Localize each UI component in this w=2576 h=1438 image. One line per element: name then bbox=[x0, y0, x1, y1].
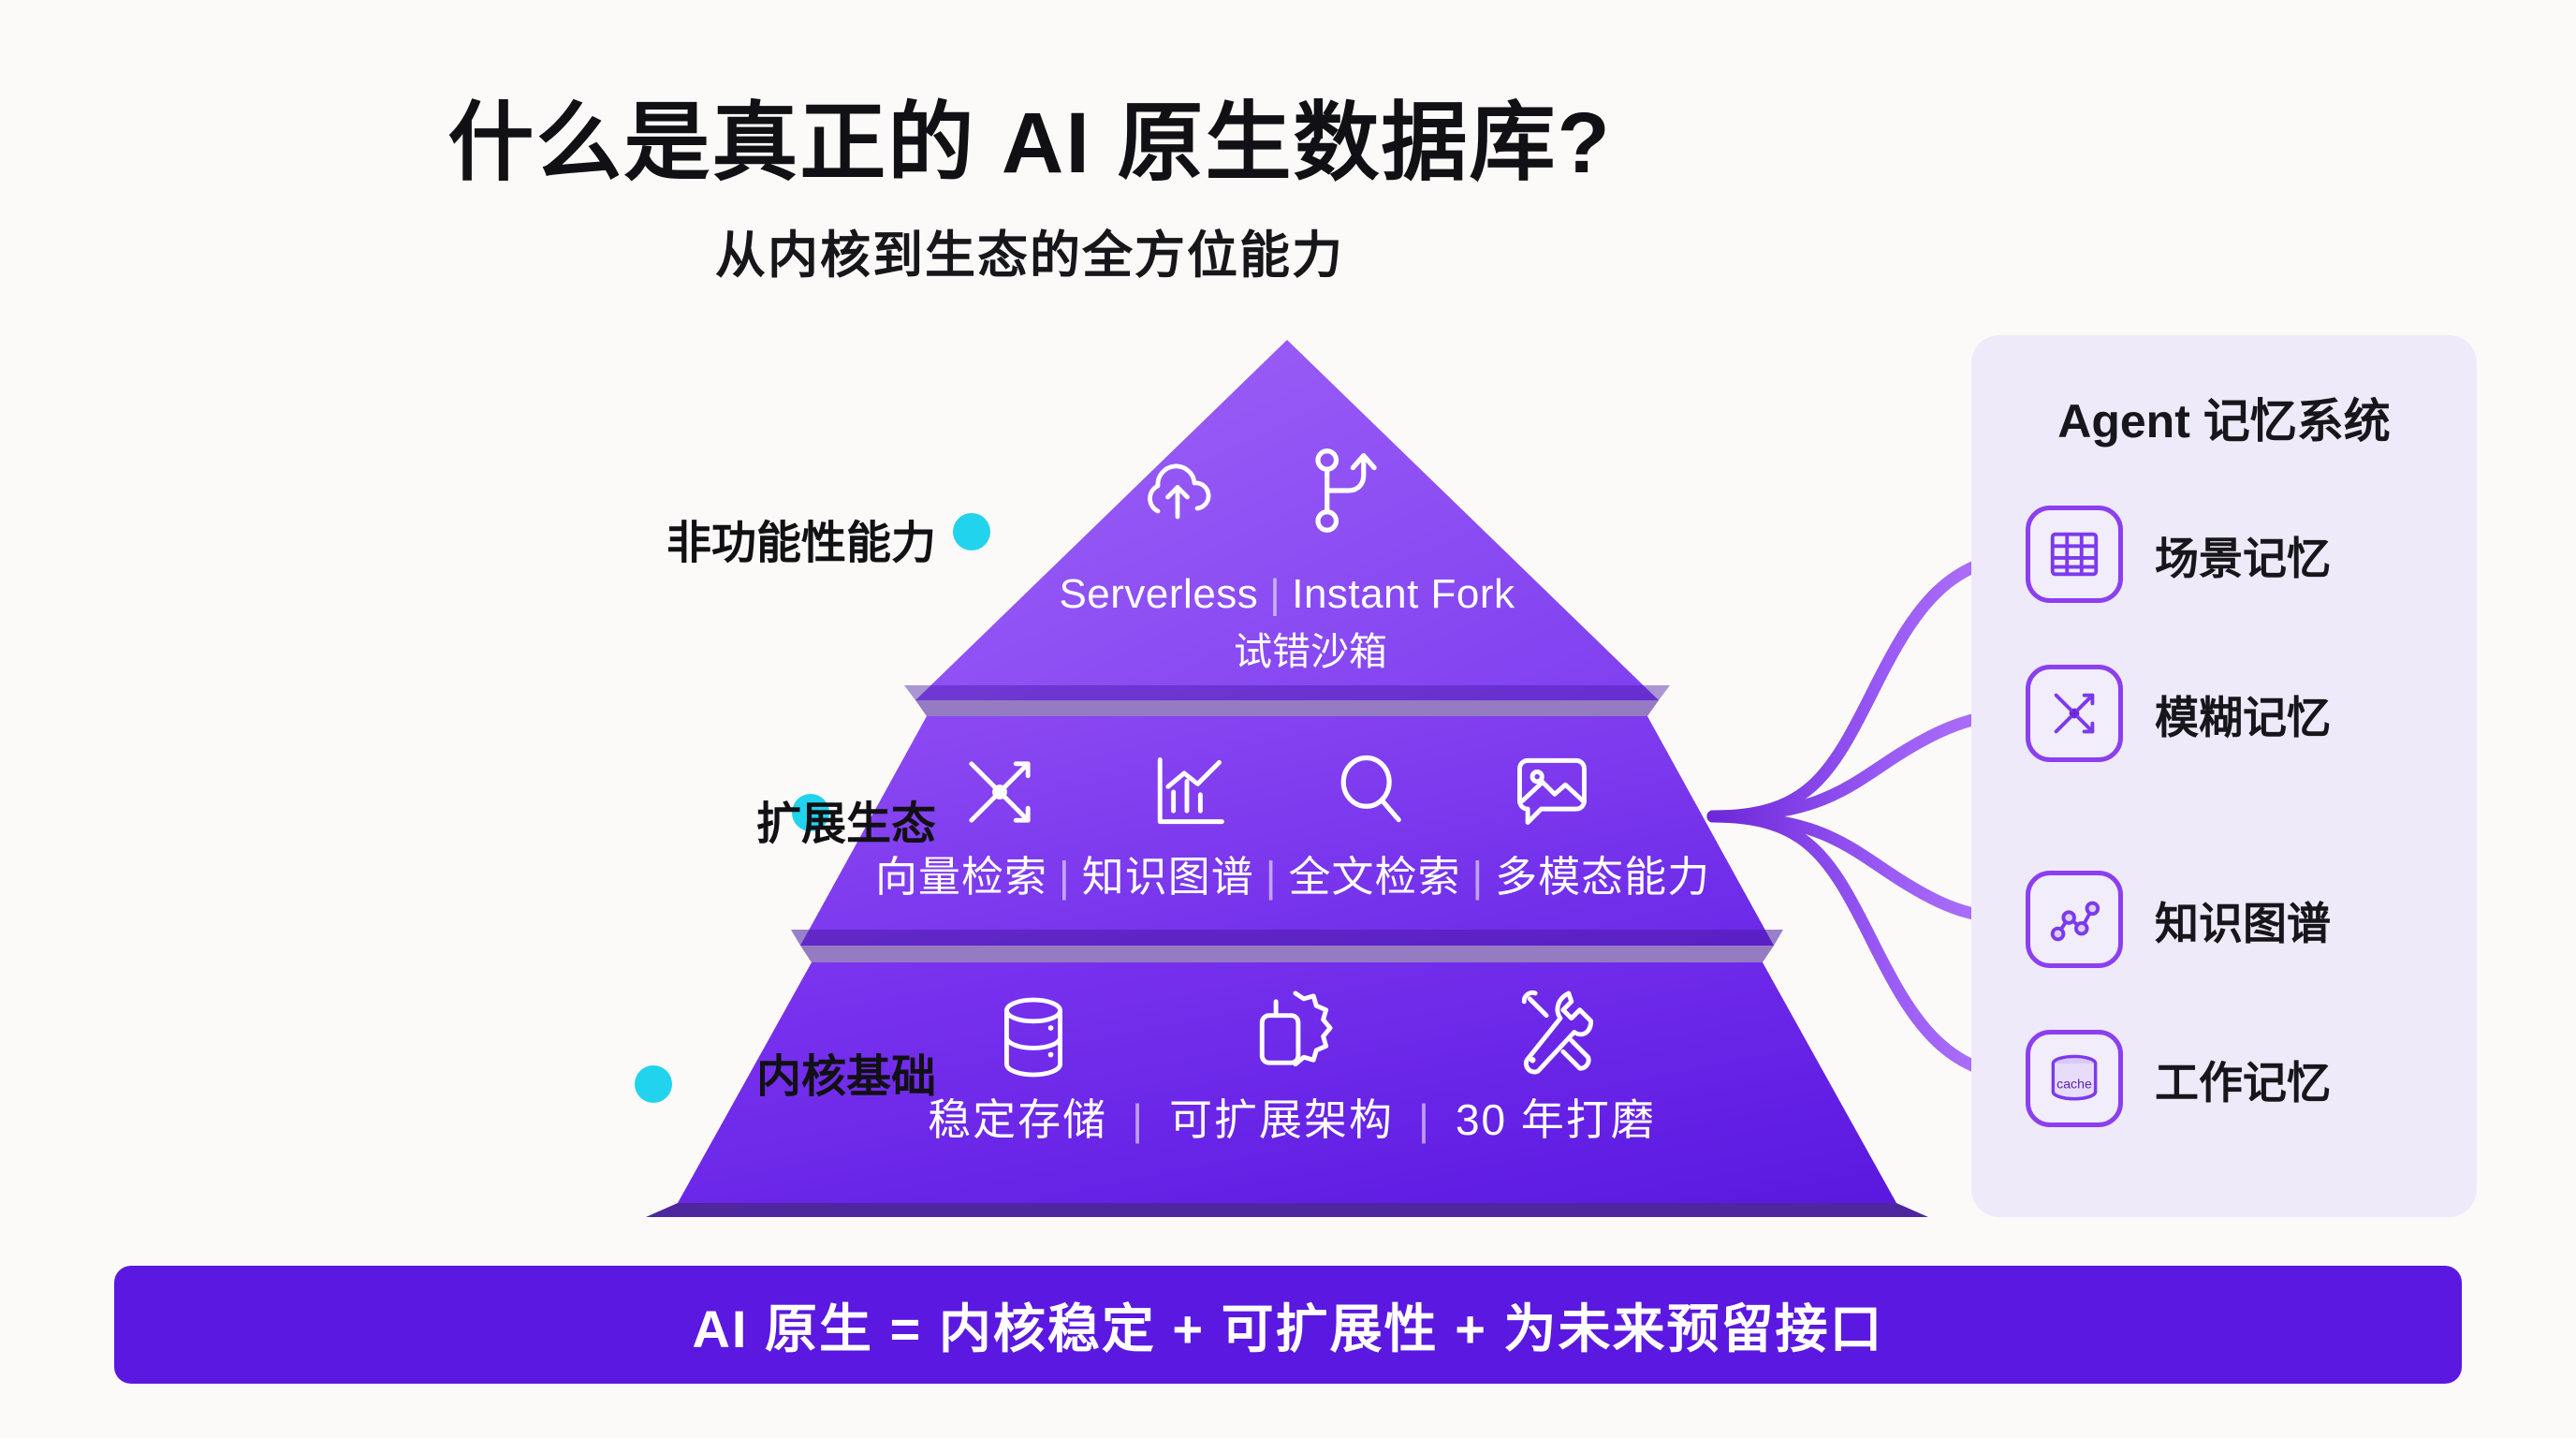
vector-scatter-icon bbox=[957, 749, 1043, 835]
tier-item-knowledge-graph: 知识图谱 bbox=[1082, 853, 1254, 901]
tier-non-functional-line1: Serverless|Instant Fork bbox=[1020, 571, 1554, 618]
database-icon bbox=[990, 990, 1076, 1084]
magnifier-icon bbox=[1327, 747, 1413, 833]
cache-cylinder-icon: cache bbox=[2026, 1030, 2123, 1127]
tier-label-instant-fork: Instant Fork bbox=[1292, 571, 1515, 617]
memory-item-scene[interactable]: 场景记忆 bbox=[2026, 506, 2466, 603]
tier-item-scalable-architecture: 可扩展架构 bbox=[1169, 1095, 1394, 1144]
infographic-canvas: 什么是真正的 AI 原生数据库? 从内核到生态的全方位能力 bbox=[0, 0, 2576, 1438]
vector-scatter-icon bbox=[2026, 665, 2123, 762]
table-grid-icon bbox=[2026, 506, 2123, 603]
text-separator: | bbox=[1460, 853, 1495, 901]
cloud-upload-icon bbox=[1133, 449, 1222, 539]
tier-extension-ecosystem-items: 向量检索|知识图谱|全文检索|多模态能力 bbox=[875, 843, 1708, 903]
memory-item-working[interactable]: cache 工作记忆 bbox=[2026, 1030, 2466, 1127]
gear-component-icon bbox=[1245, 985, 1335, 1082]
tier-left-label-kernel-foundation: 内核基础 bbox=[187, 1039, 936, 1105]
tier-label-serverless: Serverless bbox=[1059, 571, 1258, 617]
tier-non-functional-line2: 试错沙箱 bbox=[1020, 620, 1601, 676]
text-separator: | bbox=[1258, 571, 1292, 617]
summary-banner: AI 原生 = 内核稳定 + 可扩展性 + 为未来预留接口 bbox=[114, 1266, 2462, 1384]
tier-kernel-foundation-items: 稳定存储|可扩展架构|30 年打磨 bbox=[875, 1086, 1708, 1148]
memory-panel-title: Agent 记忆系统 bbox=[1971, 384, 2477, 451]
bar-chart-icon bbox=[1144, 749, 1230, 835]
tier-item-multimodal: 多模态能力 bbox=[1495, 853, 1710, 901]
image-bubble-icon bbox=[1509, 747, 1595, 833]
tier-item-stable-storage: 稳定存储 bbox=[928, 1095, 1107, 1144]
tier-item-fulltext-search: 全文检索 bbox=[1288, 853, 1460, 901]
page-subtitle: 从内核到生态的全方位能力 bbox=[0, 213, 2059, 287]
memory-item-label: 场景记忆 bbox=[2155, 522, 2331, 587]
tier-item-30-years: 30 年打磨 bbox=[1456, 1095, 1656, 1144]
memory-item-label: 工作记忆 bbox=[2155, 1047, 2331, 1111]
tier-left-label-extension-ecosystem: 扩展生态 bbox=[187, 786, 936, 852]
page-title: 什么是真正的 AI 原生数据库? bbox=[0, 73, 2059, 198]
tier-item-vector-search: 向量检索 bbox=[875, 853, 1047, 901]
memory-item-label: 模糊记忆 bbox=[2155, 682, 2331, 746]
wrench-tools-icon bbox=[1505, 985, 1599, 1082]
summary-banner-text: AI 原生 = 内核稳定 + 可扩展性 + 为未来预留接口 bbox=[692, 1287, 1883, 1363]
node-graph-icon bbox=[2026, 871, 2123, 968]
memory-item-fuzzy[interactable]: 模糊记忆 bbox=[2026, 665, 2466, 762]
cache-icon-text: cache bbox=[2056, 1076, 2092, 1091]
agent-memory-panel: Agent 记忆系统 场景记忆 bbox=[1971, 335, 2477, 1217]
text-separator: | bbox=[1107, 1095, 1169, 1144]
pyramid-tier-extension-ecosystem bbox=[791, 716, 1783, 962]
text-separator: | bbox=[1254, 853, 1289, 901]
memory-item-knowledge-graph[interactable]: 知识图谱 bbox=[2026, 871, 2466, 968]
tier-left-label-non-functional: 非功能性能力 bbox=[187, 506, 936, 571]
text-separator: | bbox=[1047, 853, 1082, 901]
git-fork-icon bbox=[1301, 442, 1383, 539]
connector-dot-non-functional bbox=[953, 513, 990, 550]
text-separator: | bbox=[1394, 1095, 1456, 1144]
memory-item-label: 知识图谱 bbox=[2155, 888, 2331, 952]
